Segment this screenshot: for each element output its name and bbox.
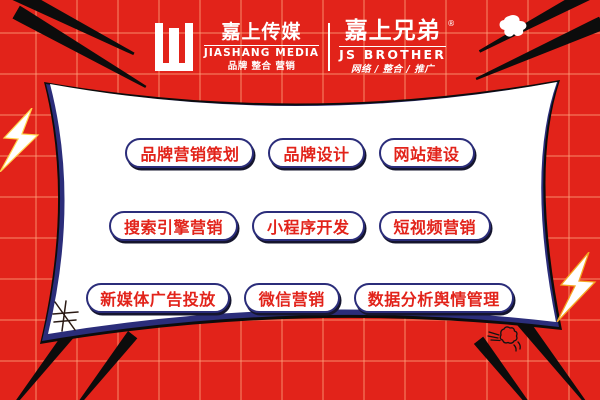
service-row-1: 品牌营销策划 品牌设计 网站建设 <box>0 138 600 168</box>
puff-cloud-doodle-icon <box>487 322 523 354</box>
service-pill[interactable]: 品牌设计 <box>268 138 364 168</box>
service-pill[interactable]: 微信营销 <box>244 283 340 313</box>
service-pill[interactable]: 品牌营销策划 <box>125 138 254 168</box>
service-pill[interactable]: 搜索引擎营销 <box>109 211 238 241</box>
logo-left-block: 嘉上传媒 JIASHANG MEDIA 品牌 整合 营销 <box>204 23 330 71</box>
scratch-lines-doodle-icon <box>52 300 84 334</box>
logo-right-en: JS BROTHER <box>339 46 446 62</box>
service-pill[interactable]: 网站建设 <box>379 138 475 168</box>
promo-poster: 嘉上传媒 JIASHANG MEDIA 品牌 整合 营销 嘉上兄弟 JS BRO… <box>0 0 600 400</box>
service-pill[interactable]: 小程序开发 <box>252 211 365 241</box>
registered-trademark-mark: ® <box>447 19 455 28</box>
brand-logo-bar: 嘉上传媒 JIASHANG MEDIA 品牌 整合 营销 嘉上兄弟 JS BRO… <box>0 14 600 80</box>
service-row-2: 搜索引擎营销 小程序开发 短视频营销 <box>0 211 600 241</box>
logo-right-block: 嘉上兄弟 JS BROTHER 网络 / 整合 / 推广 ® <box>330 20 446 74</box>
logo-left-cn: 嘉上传媒 <box>222 23 302 42</box>
logo-right-tagline: 网络 / 整合 / 推广 <box>351 65 434 75</box>
service-pill[interactable]: 短视频营销 <box>379 211 492 241</box>
js-brother-logo-mark-icon <box>154 23 194 71</box>
logo-left-tagline: 品牌 整合 营销 <box>228 62 296 72</box>
service-pill[interactable]: 新媒体广告投放 <box>86 283 230 313</box>
service-pill-grid: 品牌营销策划 品牌设计 网站建设 搜索引擎营销 小程序开发 短视频营销 新媒体广… <box>0 138 600 313</box>
logo-right-cn: 嘉上兄弟 <box>345 20 441 43</box>
logo-left-en: JIASHANG MEDIA <box>204 45 319 59</box>
service-pill[interactable]: 数据分析舆情管理 <box>354 283 514 313</box>
service-row-3: 新媒体广告投放 微信营销 数据分析舆情管理 <box>0 283 600 313</box>
